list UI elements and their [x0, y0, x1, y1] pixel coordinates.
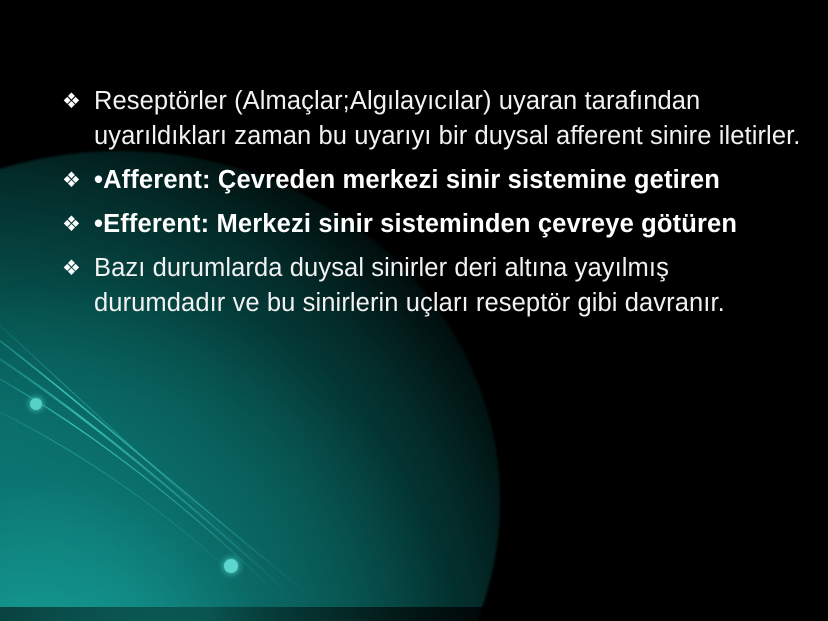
- arc-node-lower: [216, 551, 246, 581]
- arc-node-lower-core: [224, 559, 238, 573]
- slide-body-text: ❖ Reseptörler (Almaçlar;Algılayıcılar) u…: [62, 84, 802, 330]
- bullet-text-2: •Afferent: Çevreden merkezi sinir sistem…: [94, 163, 802, 198]
- arc-node-upper: [23, 391, 49, 417]
- slide-canvas: ❖ Reseptörler (Almaçlar;Algılayıcılar) u…: [0, 0, 828, 621]
- bullet-marker-icon: ❖: [62, 84, 94, 119]
- teal-glow-highlight: [0, 281, 460, 621]
- bullet-text-1: Reseptörler (Almaçlar;Algılayıcılar) uya…: [94, 84, 802, 154]
- bullet-text-4: Bazı durumlarda duysal sinirler deri alt…: [94, 251, 802, 321]
- bullet-item-3: ❖ •Efferent: Merkezi sinir sisteminden ç…: [62, 207, 802, 242]
- arc-node-upper-core: [30, 398, 42, 410]
- bullet-item-1: ❖ Reseptörler (Almaçlar;Algılayıcılar) u…: [62, 84, 802, 154]
- bottom-edge-shadow: [0, 607, 520, 621]
- bullet-item-2: ❖ •Afferent: Çevreden merkezi sinir sist…: [62, 163, 802, 198]
- bullet-marker-icon: ❖: [62, 207, 94, 242]
- bullet-marker-icon: ❖: [62, 163, 94, 198]
- bullet-item-4: ❖ Bazı durumlarda duysal sinirler deri a…: [62, 251, 802, 321]
- arc-nodes: [23, 391, 246, 581]
- arc-group: [0, 300, 330, 620]
- bullet-marker-icon: ❖: [62, 251, 94, 286]
- bullet-text-3: •Efferent: Merkezi sinir sisteminden çev…: [94, 207, 802, 242]
